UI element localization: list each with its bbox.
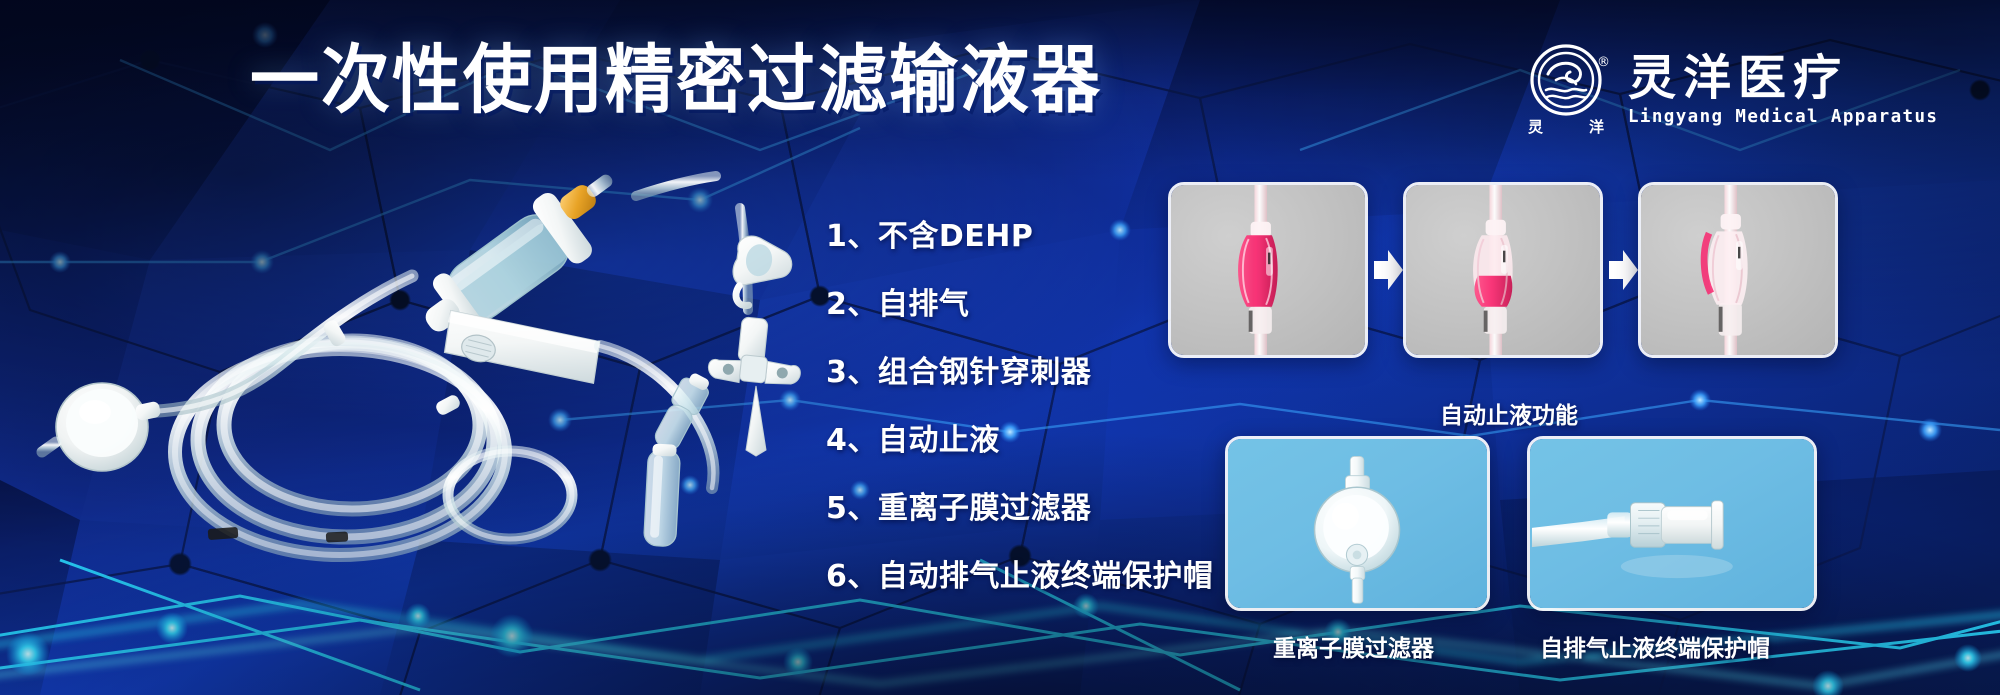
company-name-en: Lingyang Medical Apparatus (1628, 107, 1938, 127)
logo-mark-char-right: 洋 (1589, 116, 1604, 137)
logo-text-block: 灵洋医疗 Lingyang Medical Apparatus (1628, 53, 1938, 128)
feature-item-2: 2、自排气 (826, 290, 1213, 320)
hero-product-image (40, 150, 800, 560)
feature-item-1: 1、不含DEHP (826, 222, 1213, 252)
logo-mark: ® 灵 洋 (1528, 44, 1610, 136)
logo-mark-characters: 灵 洋 (1528, 116, 1604, 137)
auto-stop-step-1-photo (1168, 182, 1368, 358)
auto-stop-device-3 (1641, 185, 1835, 355)
heavy-ion-membrane-filter-photo (1225, 436, 1490, 611)
self-venting-terminal-cap-photo (1527, 436, 1817, 611)
membrane-filter-illustration (1228, 439, 1487, 608)
registered-trademark-icon: ® (1597, 56, 1610, 69)
terminal-cap-illustration (1530, 439, 1814, 608)
arrow-right-icon-1 (1372, 248, 1404, 292)
feature-item-4: 4、自动止液 (826, 426, 1213, 456)
feature-item-6: 6、自动排气止液终端保护帽 (826, 562, 1213, 592)
caption-auto-stop-function: 自动止液功能 (1440, 396, 1578, 430)
caption-heavy-ion-filter: 重离子膜过滤器 (1273, 629, 1434, 663)
auto-stop-step-2-photo (1403, 182, 1603, 358)
feature-item-3: 3、组合钢针穿刺器 (826, 358, 1213, 388)
banner-root: 一次性使用精密过滤输液器 ® 灵 洋 灵洋医疗 Lingyang Medical… (0, 0, 2000, 695)
page-title: 一次性使用精密过滤输液器 (250, 44, 1102, 113)
logo-mark-char-left: 灵 (1528, 116, 1543, 137)
brand-logo: ® 灵 洋 灵洋医疗 Lingyang Medical Apparatus (1528, 44, 1938, 136)
auto-stop-device-1 (1171, 185, 1365, 355)
feature-list: 1、不含DEHP 2、自排气 3、组合钢针穿刺器 4、自动止液 5、重离子膜过滤… (826, 222, 1213, 592)
logo-emblem-icon (1530, 44, 1602, 116)
arrow-right-icon-2 (1607, 248, 1639, 292)
caption-terminal-cap: 自排气止液终端保护帽 (1540, 629, 1770, 663)
company-name-cn: 灵洋医疗 (1628, 53, 1938, 104)
auto-stop-device-2 (1406, 185, 1600, 355)
auto-stop-step-3-photo (1638, 182, 1838, 358)
feature-item-5: 5、重离子膜过滤器 (826, 494, 1213, 524)
main-title-text: 一次性使用精密过滤输液器 (250, 44, 1102, 119)
